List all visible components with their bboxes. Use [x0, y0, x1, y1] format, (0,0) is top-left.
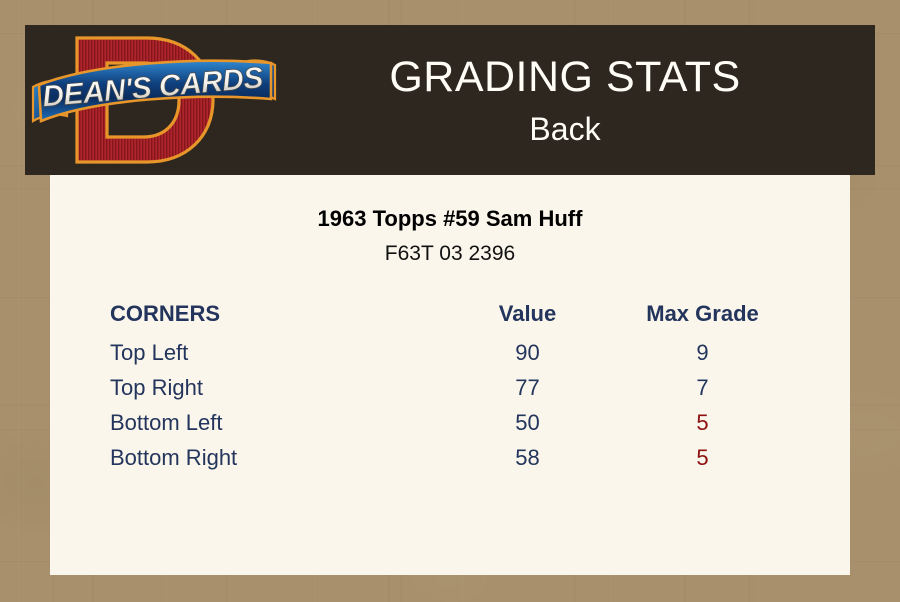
row-value: 50 [440, 405, 615, 440]
row-label: Top Left [110, 335, 440, 370]
stats-table-body: Top Left 90 9 Top Right 77 7 Bottom Left… [110, 335, 790, 475]
row-max-grade: 5 [615, 440, 790, 475]
row-max-grade: 9 [615, 335, 790, 370]
page-subtitle: Back [283, 113, 847, 145]
column-header-corners: CORNERS [110, 300, 440, 335]
row-label: Top Right [110, 370, 440, 405]
row-value: 58 [440, 440, 615, 475]
logo-artwork: DEAN'S CARDS [25, 25, 283, 175]
table-row: Bottom Left 50 5 [110, 405, 790, 440]
table-row: Top Right 77 7 [110, 370, 790, 405]
column-header-max-grade: Max Grade [615, 300, 790, 335]
deans-cards-logo[interactable]: DEAN'S CARDS [25, 25, 283, 175]
content-panel: 1963 Topps #59 Sam Huff F63T 03 2396 COR… [50, 175, 850, 575]
grading-stats-table: CORNERS Value Max Grade Top Left 90 9 To… [110, 300, 790, 475]
stats-header-row: CORNERS Value Max Grade [110, 300, 790, 335]
row-label: Bottom Right [110, 440, 440, 475]
page-title: GRADING STATS [283, 56, 847, 99]
card-sku: F63T 03 2396 [50, 230, 850, 264]
table-row: Top Left 90 9 [110, 335, 790, 370]
card-title: 1963 Topps #59 Sam Huff [50, 175, 850, 230]
header-bar: DEAN'S CARDS GRADING STATS Back [25, 25, 875, 175]
table-row: Bottom Right 58 5 [110, 440, 790, 475]
row-value: 90 [440, 335, 615, 370]
row-value: 77 [440, 370, 615, 405]
row-label: Bottom Left [110, 405, 440, 440]
stats-table-head: CORNERS Value Max Grade [110, 300, 790, 335]
header-titles: GRADING STATS Back [283, 56, 875, 145]
column-header-value: Value [440, 300, 615, 335]
row-max-grade: 7 [615, 370, 790, 405]
row-max-grade: 5 [615, 405, 790, 440]
